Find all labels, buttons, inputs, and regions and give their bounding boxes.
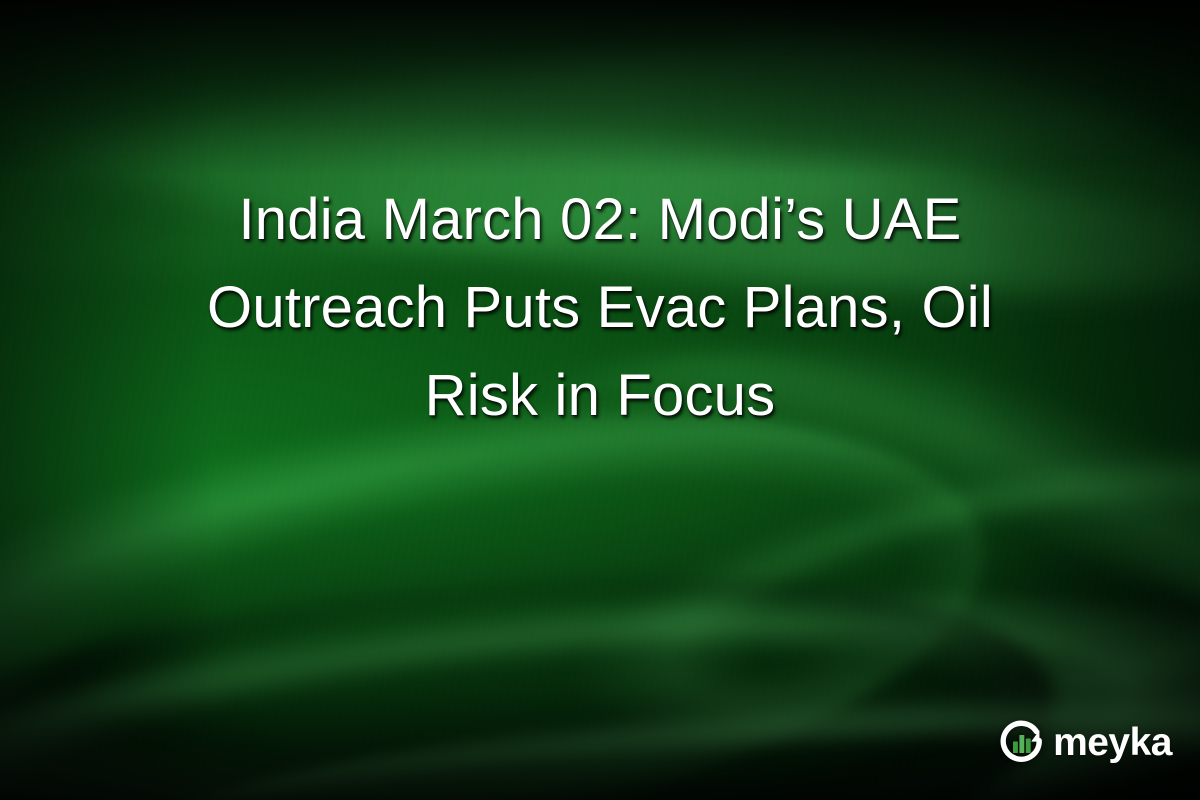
meyka-logo[interactable]: meyka [998, 718, 1172, 766]
headline-line-2: Outreach Puts Evac Plans, Oil [48, 264, 1152, 352]
headline-line-3: Risk in Focus [48, 352, 1152, 440]
meyka-wordmark: meyka [1053, 723, 1172, 762]
headline-line-1: India March 02: Modi’s UAE [48, 176, 1152, 264]
meyka-bar-chart-ring-icon [998, 718, 1046, 766]
background-wave-dark-2 [0, 504, 1080, 800]
headline: India March 02: Modi’s UAE Outreach Puts… [0, 176, 1200, 440]
article-banner: India March 02: Modi’s UAE Outreach Puts… [0, 0, 1200, 800]
background-wave-light-3 [53, 621, 1200, 800]
